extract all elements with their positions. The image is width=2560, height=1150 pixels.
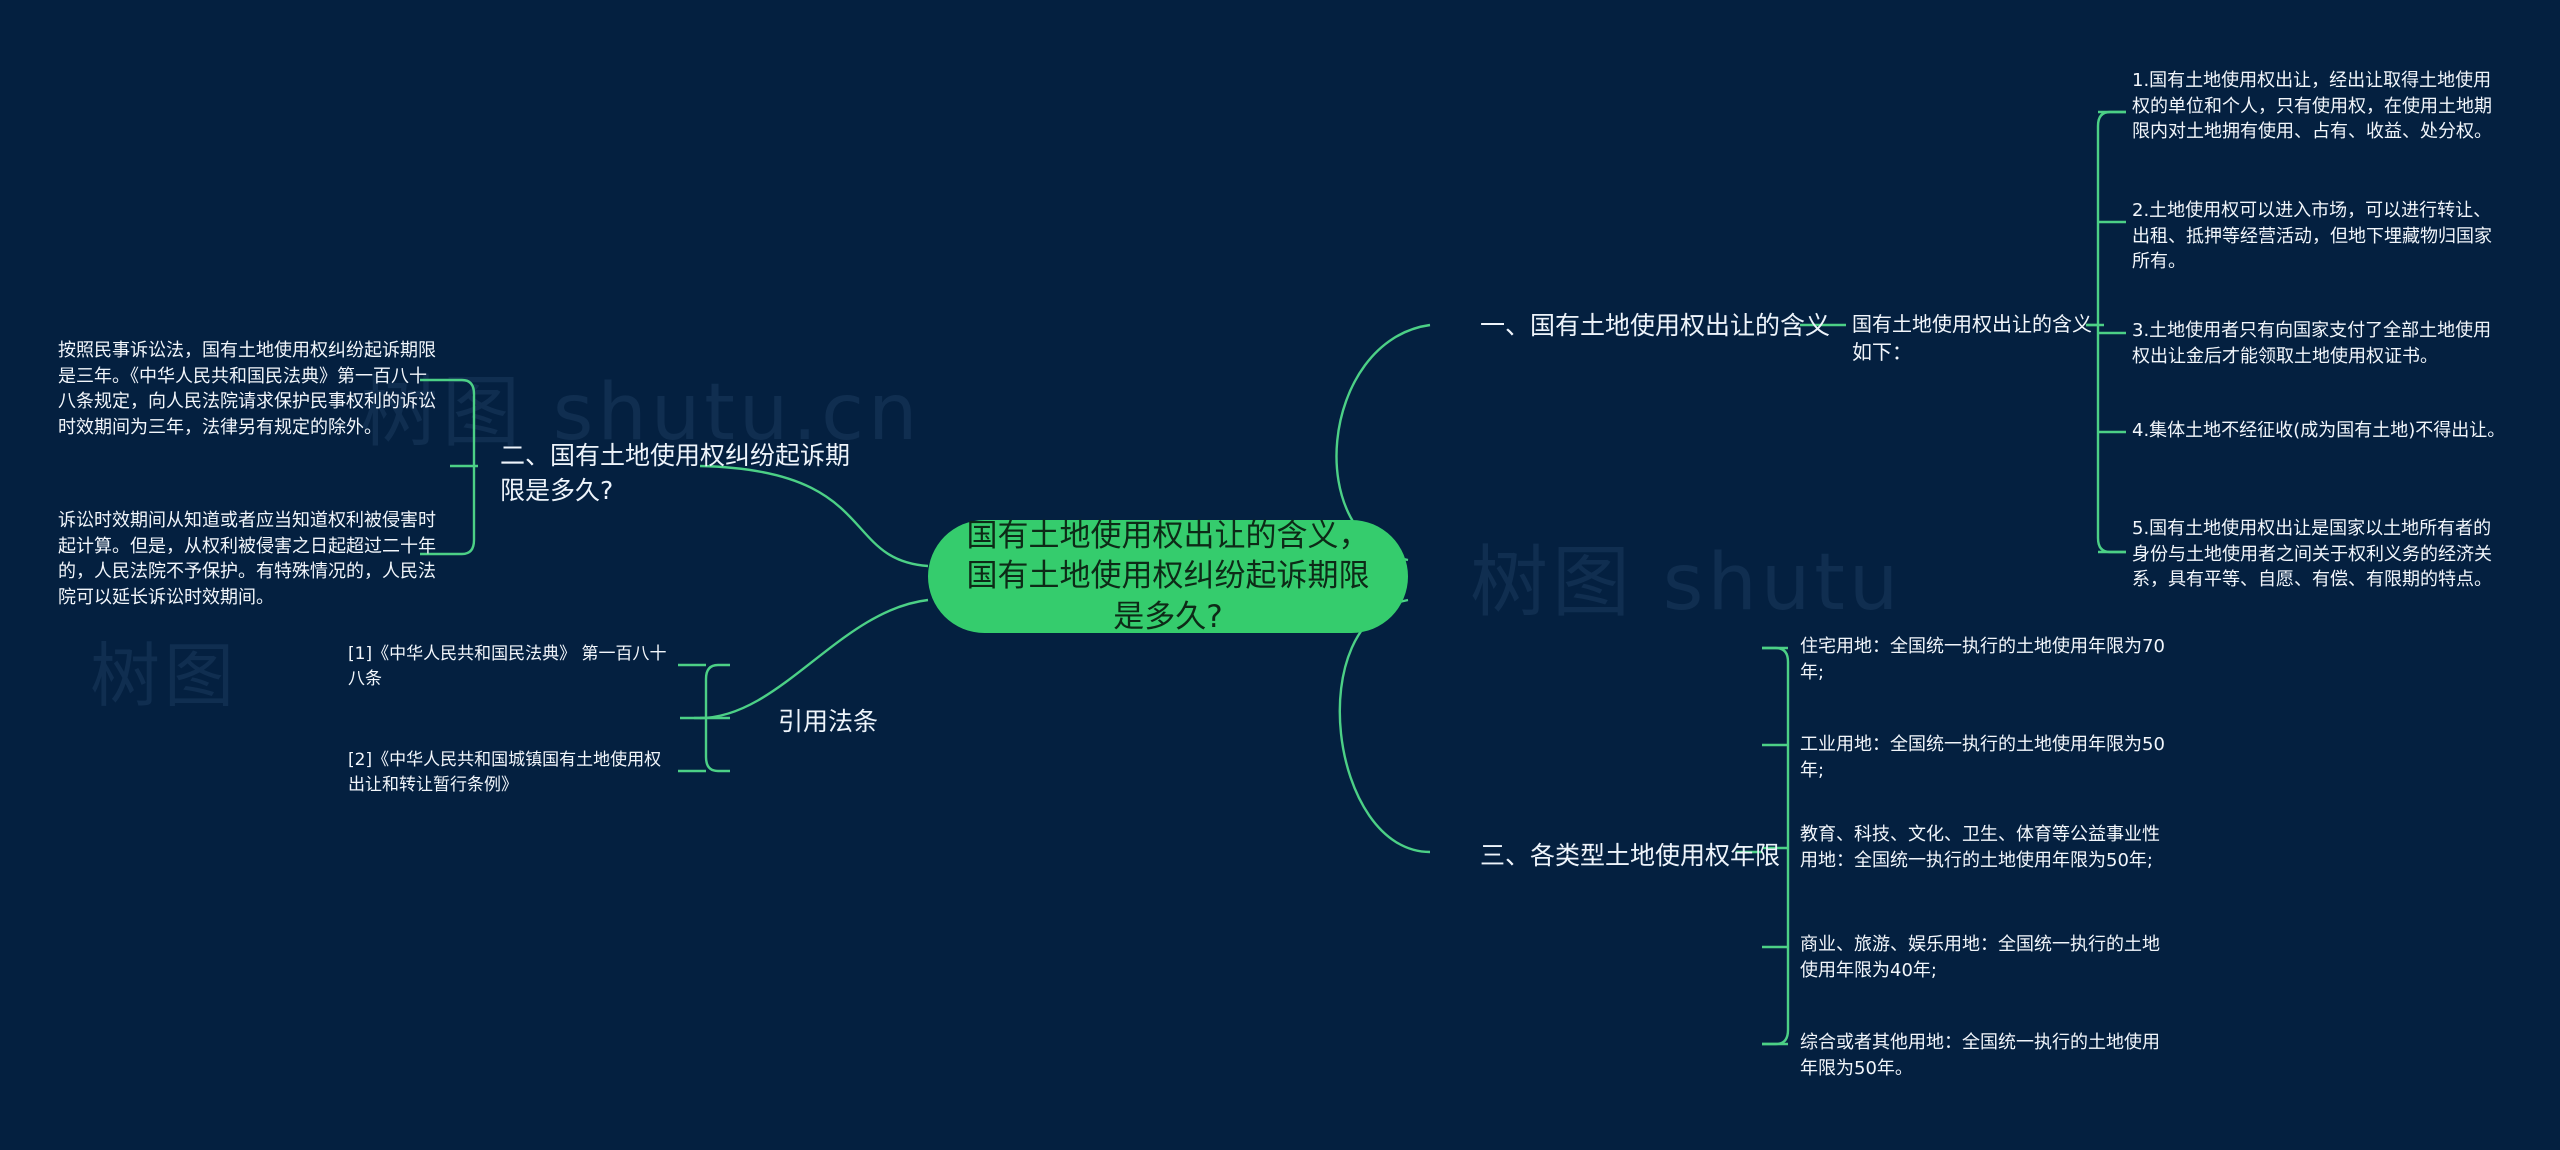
link-central-branch4 xyxy=(1340,600,1430,852)
branch2-paragraph-1[interactable]: 按照民事诉讼法，国有土地使用权纠纷起诉期限是三年。《中华人民共和国民法典》第一百… xyxy=(58,338,436,440)
branch1-item-2[interactable]: 2.土地使用权可以进入市场，可以进行转让、出租、抵押等经营活动，但地下埋藏物归国… xyxy=(2132,198,2508,275)
mindmap-canvas: 树图 shutu.cn 树图 shutu 树图 xyxy=(0,0,2560,1150)
branch-label-4[interactable]: 三、各类型土地使用权年限 xyxy=(1480,838,1780,873)
branch1-sub-node[interactable]: 国有土地使用权出让的含义如下： xyxy=(1852,310,2092,366)
branch4-item-2[interactable]: 工业用地：全国统一执行的土地使用年限为50年; xyxy=(1800,732,2172,783)
branch1-item-4[interactable]: 4.集体土地不经征收(成为国有土地)不得出让。 xyxy=(2132,418,2508,444)
branch-label-2[interactable]: 二、国有土地使用权纠纷起诉期限是多久? xyxy=(500,438,860,508)
branch3-reference-1[interactable]: [1]《中华人民共和国民法典》 第一百八十八条 xyxy=(348,642,678,691)
branch4-item-3[interactable]: 教育、科技、文化、卫生、体育等公益事业性用地：全国统一执行的土地使用年限为50年… xyxy=(1800,822,2172,873)
branch4-item-4[interactable]: 商业、旅游、娱乐用地：全国统一执行的土地使用年限为40年; xyxy=(1800,932,2172,983)
branch4-item-1[interactable]: 住宅用地：全国统一执行的土地使用年限为70年; xyxy=(1800,634,2172,685)
link-central-branch3 xyxy=(700,600,928,718)
branch-label-1[interactable]: 一、国有土地使用权出让的含义 xyxy=(1480,308,1830,343)
branch1-item-5[interactable]: 5.国有土地使用权出让是国家以土地所有者的身份与土地使用者之间关于权利义务的经济… xyxy=(2132,516,2508,593)
branch4-item-5[interactable]: 综合或者其他用地：全国统一执行的土地使用年限为50年。 xyxy=(1800,1030,2172,1081)
branch3-reference-2[interactable]: [2]《中华人民共和国城镇国有土地使用权出让和转让暂行条例》 xyxy=(348,748,678,797)
branch2-paragraph-2[interactable]: 诉讼时效期间从知道或者应当知道权利被侵害时起计算。但是，从权利被侵害之日起超过二… xyxy=(58,508,436,610)
branch-label-3[interactable]: 引用法条 xyxy=(778,704,878,739)
central-node[interactable]: 国有土地使用权出让的含义，国有土地使用权纠纷起诉期限是多久? xyxy=(928,520,1408,633)
branch1-item-1[interactable]: 1.国有土地使用权出让，经出让取得土地使用权的单位和个人，只有使用权，在使用土地… xyxy=(2132,68,2508,145)
branch1-item-3[interactable]: 3.土地使用者只有向国家支付了全部土地使用权出让金后才能领取土地使用权证书。 xyxy=(2132,318,2508,369)
